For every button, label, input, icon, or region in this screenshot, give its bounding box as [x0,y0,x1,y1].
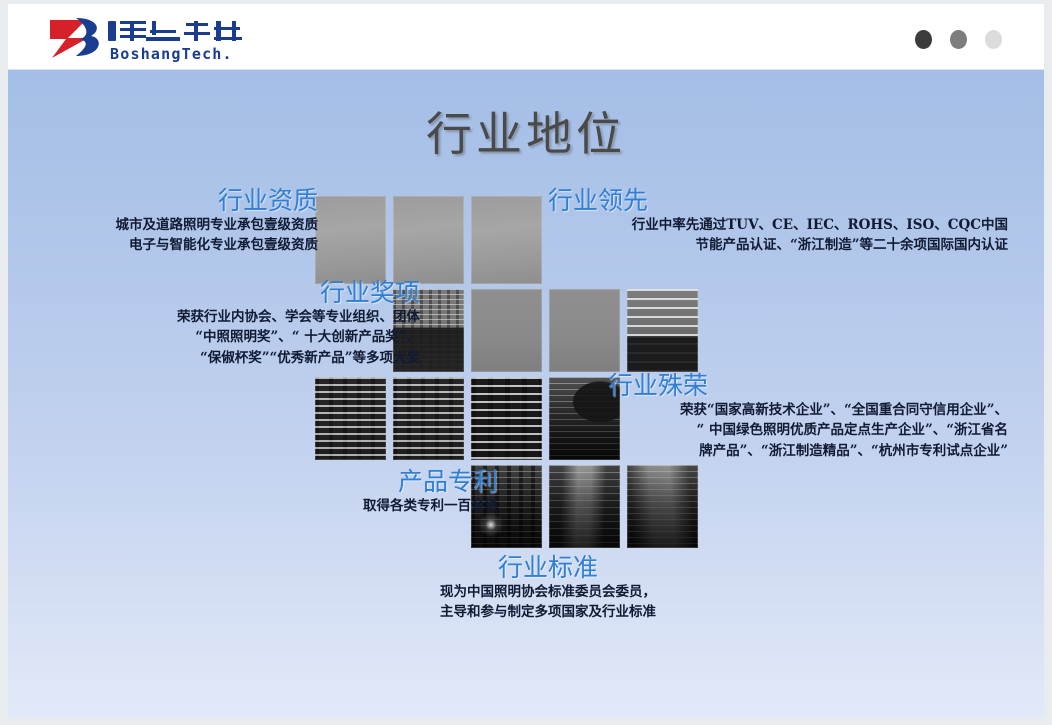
tile-night-2 [549,465,620,548]
text-line: “中照照明奖”、“ 十大创新产品奖”、 [90,327,420,348]
tile-sky-4 [471,289,542,372]
text-line: 取得各类专利一百余项 [278,496,498,517]
block-leading: 行业领先 行业中率先通过TUV、CE、IEC、ROHS、ISO、CQC中国 节能… [548,187,1008,256]
body-leading: 行业中率先通过TUV、CE、IEC、ROHS、ISO、CQC中国 节能产品认证、… [548,215,1008,257]
presentation-slide: BoshangTech. 行业地位 行业资质 城市及道路照明专业承包壹级资质 电… [0,0,1052,725]
block-awards: 行业奖项 荣获行业内协会、学会等专业组织、团体 “中照照明奖”、“ 十大创新产品… [90,279,420,369]
text-line: 荣获“国家高新技术企业”、“全国重合同守信用企业”、 [608,400,1008,421]
heading-qualification: 行业资质 [48,187,318,215]
page-title: 行业地位 [8,98,1044,164]
block-standard: 行业标准 现为中国照明协会标准委员会委员， 主导和参与制定多项国家及行业标准 [378,554,718,623]
tile-highrise-1 [315,377,386,460]
text-line: 荣获行业内协会、学会等专业组织、团体 [90,307,420,328]
text-line: 节能产品认证、“浙江制造”等二十余项国际国内认证 [548,235,1008,256]
block-qualification: 行业资质 城市及道路照明专业承包壹级资质 电子与智能化专业承包壹级资质 [48,187,318,256]
dot-medium-icon[interactable] [950,30,967,49]
tile-sky-3 [471,196,542,284]
text-line: “ 中国绿色照明优质产品定点生产企业”、“浙江省名 [608,420,1008,441]
text-line: 牌产品”、“浙江制造精品”、“杭州市专利试点企业” [608,441,1008,462]
text-line: “保俶杯奖”“优秀新产品”等多项大奖 [90,348,420,369]
heading-awards: 行业奖项 [90,279,420,307]
heading-standard: 行业标准 [378,554,718,582]
dot-light-icon[interactable] [985,30,1002,49]
company-logo[interactable]: BoshangTech. [46,12,261,64]
heading-patent: 产品专利 [278,468,498,496]
body-honors: 荣获“国家高新技术企业”、“全国重合同守信用企业”、 “ 中国绿色照明优质产品定… [608,400,1008,463]
tile-highrise-2 [393,377,464,460]
text-line: 行业中率先通过TUV、CE、IEC、ROHS、ISO、CQC中国 [548,215,1008,236]
heading-honors: 行业殊荣 [608,372,1008,400]
body-standard: 现为中国照明协会标准委员会委员， 主导和参与制定多项国家及行业标准 [378,582,718,624]
tile-lowrise-1 [627,289,698,372]
logo-wordmark-en: BoshangTech. [110,45,233,63]
text-line: 电子与智能化专业承包壹级资质 [48,235,318,256]
app-header: BoshangTech. [8,4,1044,70]
dot-dark-icon[interactable] [915,30,932,49]
block-patent: 产品专利 取得各类专利一百余项 [278,468,498,516]
tile-sky-2 [393,196,464,284]
logo-mark-icon: BoshangTech. [46,12,261,64]
heading-leading: 行业领先 [548,187,1008,215]
text-line: 现为中国照明协会标准委员会委员， [378,582,718,603]
slide-canvas: 行业地位 行业资质 城市及道路照明专业承包壹级资质 电子与智能化专业承包壹级资质… [8,70,1044,718]
tile-night-3 [627,465,698,548]
text-line: 城市及道路照明专业承包壹级资质 [48,215,318,236]
window-dots [915,30,1002,49]
tile-sky-1 [315,196,386,284]
body-patent: 取得各类专利一百余项 [278,496,498,517]
tile-sky-5 [549,289,620,372]
text-line: 主导和参与制定多项国家及行业标准 [378,602,718,623]
tile-highrise-3 [471,377,542,460]
body-awards: 荣获行业内协会、学会等专业组织、团体 “中照照明奖”、“ 十大创新产品奖”、 “… [90,307,420,370]
body-qualification: 城市及道路照明专业承包壹级资质 电子与智能化专业承包壹级资质 [48,215,318,257]
block-honors: 行业殊荣 荣获“国家高新技术企业”、“全国重合同守信用企业”、 “ 中国绿色照明… [608,372,1008,462]
